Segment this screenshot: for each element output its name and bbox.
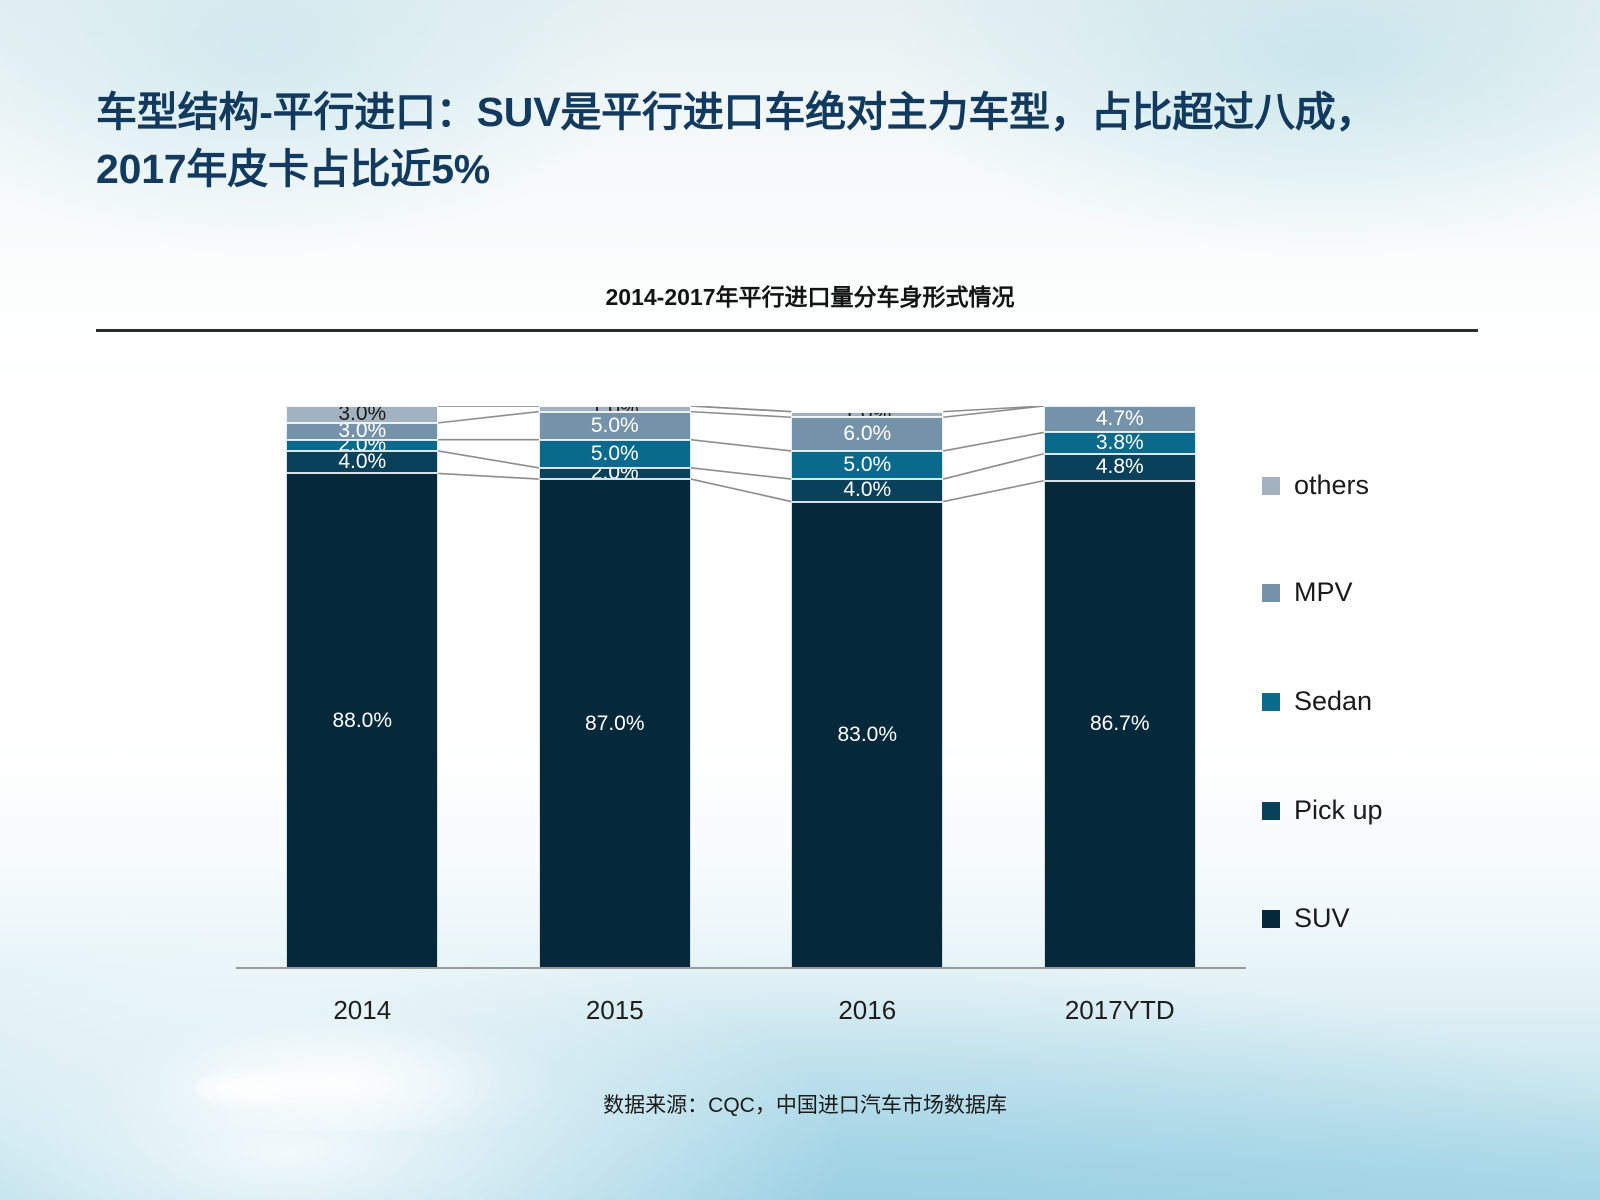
segment-value-label: 5.0%	[591, 442, 639, 466]
title-divider-rule	[96, 329, 1478, 332]
chart-legend: othersMPVSedanPick upSUV	[1262, 460, 1522, 950]
segment-value-label: 3.0%	[338, 406, 386, 423]
legend-item-pick-up[interactable]: Pick up	[1262, 797, 1383, 824]
bar-segment-mpv-2015[interactable]: 5.0%	[539, 412, 691, 440]
segment-value-label: 3.0%	[338, 423, 386, 440]
legend-label: others	[1294, 472, 1369, 499]
x-axis-labels: 2014201520162017YTD	[236, 995, 1246, 1035]
bar-segment-pick-up-2014[interactable]: 4.0%	[286, 451, 438, 473]
legend-item-mpv[interactable]: MPV	[1262, 579, 1353, 606]
bar-segment-mpv-2017YTD[interactable]: 4.7%	[1044, 406, 1196, 432]
bar-segment-others-2014[interactable]: 3.0%	[286, 406, 438, 423]
segment-value-label: 4.7%	[1096, 407, 1144, 431]
bar-segment-mpv-2016[interactable]: 6.0%	[791, 417, 943, 451]
legend-item-sedan[interactable]: Sedan	[1262, 688, 1372, 715]
bar-2014[interactable]: 3.0%3.0%2.0%4.0%88.0%	[286, 406, 438, 968]
segment-value-label: 5.0%	[843, 453, 891, 477]
legend-label: Pick up	[1294, 797, 1383, 824]
x-axis-label-2014: 2014	[262, 995, 462, 1026]
chart-title: 2014-2017年平行进口量分车身形式情况	[0, 278, 1600, 312]
x-axis-label-2015: 2015	[515, 995, 715, 1026]
segment-value-label: 88.0%	[332, 709, 392, 733]
segment-value-label: 2.0%	[591, 468, 639, 479]
x-axis-line	[236, 967, 1246, 969]
bar-segment-sedan-2015[interactable]: 5.0%	[539, 440, 691, 468]
x-axis-label-2017YTD: 2017YTD	[1020, 995, 1220, 1026]
bar-2017YTD[interactable]: 4.7%3.8%4.8%86.7%	[1044, 406, 1196, 968]
bar-segment-sedan-2017YTD[interactable]: 3.8%	[1044, 432, 1196, 453]
legend-item-suv[interactable]: SUV	[1262, 905, 1350, 932]
legend-label: SUV	[1294, 905, 1350, 932]
segment-value-label: 6.0%	[843, 422, 891, 446]
bar-segment-pick-up-2016[interactable]: 4.0%	[791, 479, 943, 501]
legend-swatch-icon	[1262, 477, 1280, 495]
segment-value-label: 4.8%	[1096, 455, 1144, 479]
segment-value-label: 83.0%	[837, 723, 897, 747]
bar-segment-mpv-2014[interactable]: 3.0%	[286, 423, 438, 440]
legend-label: Sedan	[1294, 688, 1372, 715]
legend-item-others[interactable]: others	[1262, 472, 1369, 499]
legend-label: MPV	[1294, 579, 1353, 606]
source-note: 数据来源：CQC，中国进口汽车市场数据库	[0, 1089, 1600, 1119]
bar-segment-sedan-2014[interactable]: 2.0%	[286, 440, 438, 451]
bar-2016[interactable]: 1.0%6.0%5.0%4.0%83.0%	[791, 412, 943, 968]
bar-segment-suv-2014[interactable]: 88.0%	[286, 473, 438, 968]
bar-segment-pick-up-2017YTD[interactable]: 4.8%	[1044, 454, 1196, 481]
legend-swatch-icon	[1262, 910, 1280, 928]
bar-segment-suv-2016[interactable]: 83.0%	[791, 502, 943, 968]
bar-segment-pick-up-2015[interactable]: 2.0%	[539, 468, 691, 479]
segment-value-label: 4.0%	[843, 479, 891, 501]
segment-value-label: 3.8%	[1096, 432, 1144, 453]
legend-swatch-icon	[1262, 802, 1280, 820]
slide-canvas: 车型结构-平行进口：SUV是平行进口车绝对主力车型，占比超过八成，2017年皮卡…	[0, 0, 1600, 1200]
segment-value-label: 4.0%	[338, 451, 386, 473]
slide-title: 车型结构-平行进口：SUV是平行进口车绝对主力车型，占比超过八成，2017年皮卡…	[96, 84, 1416, 197]
segment-value-label: 2.0%	[338, 440, 386, 451]
bar-segment-suv-2017YTD[interactable]: 86.7%	[1044, 481, 1196, 968]
segment-value-label: 86.7%	[1090, 712, 1150, 736]
bar-2015[interactable]: 1.0%5.0%5.0%2.0%87.0%	[539, 406, 691, 968]
bar-segment-suv-2015[interactable]: 87.0%	[539, 479, 691, 968]
bar-segment-sedan-2016[interactable]: 5.0%	[791, 451, 943, 479]
x-axis-label-2016: 2016	[767, 995, 967, 1026]
segment-value-label: 5.0%	[591, 414, 639, 438]
legend-swatch-icon	[1262, 584, 1280, 602]
stacked-bar-plot: 3.0%3.0%2.0%4.0%88.0%1.0%5.0%5.0%2.0%87.…	[236, 406, 1246, 968]
legend-swatch-icon	[1262, 693, 1280, 711]
segment-value-label: 87.0%	[585, 712, 645, 736]
